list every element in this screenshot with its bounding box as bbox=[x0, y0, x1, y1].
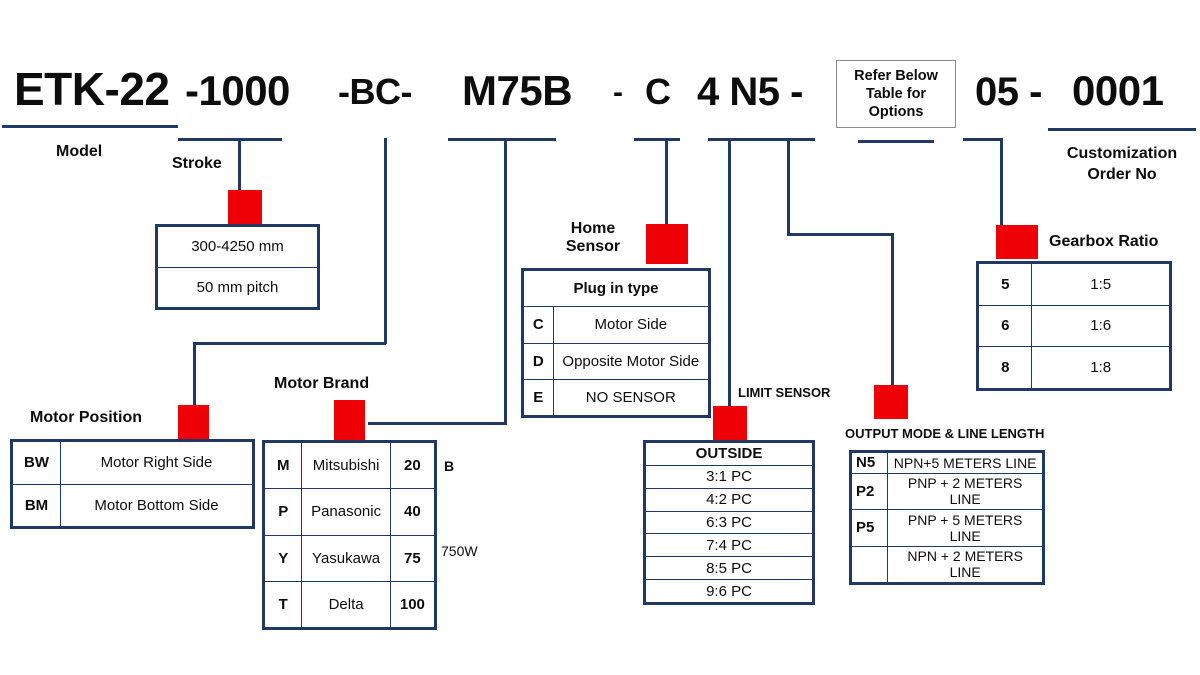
caption-motor-position: Motor Position bbox=[30, 409, 142, 427]
output-mode-leader-drop2 bbox=[891, 233, 894, 385]
motor-brand-name: Delta bbox=[302, 581, 390, 627]
stroke-pitch-cell: 50 mm pitch bbox=[158, 267, 318, 308]
limit-sensor-value: 7:4 PC bbox=[646, 534, 813, 557]
table-row: P2 PNP + 2 METERS LINE bbox=[852, 473, 1043, 509]
code-segment-home-sensor: C bbox=[645, 74, 671, 110]
output-mode-leader-run bbox=[787, 233, 893, 236]
caption-customization-line1: Customization bbox=[1044, 144, 1200, 165]
limit-sensor-value: 3:1 PC bbox=[646, 465, 813, 488]
output-mode-code: P5 bbox=[852, 510, 888, 546]
table-motor-position: BW Motor Right Side BM Motor Bottom Side bbox=[10, 439, 255, 529]
home-sensor-desc: Motor Side bbox=[553, 307, 708, 343]
table-row: P Panasonic 40 bbox=[265, 489, 435, 535]
table-row: 3:1 PC bbox=[646, 465, 813, 488]
model-underline bbox=[2, 125, 178, 128]
table-row: E NO SENSOR bbox=[524, 379, 709, 415]
motor-brand-code: T bbox=[265, 581, 302, 627]
options-box-line-3: Options bbox=[854, 103, 938, 121]
home-sensor-marker bbox=[646, 224, 688, 264]
options-box-line-2: Table for bbox=[854, 85, 938, 103]
motor-brand-code: P bbox=[265, 489, 302, 535]
limit-sensor-header: OUTSIDE bbox=[646, 443, 813, 466]
table-row: 7:4 PC bbox=[646, 534, 813, 557]
table-row: OUTSIDE bbox=[646, 443, 813, 466]
output-mode-leader-bar bbox=[753, 138, 815, 141]
motor-position-leader-drop bbox=[384, 138, 387, 344]
table-stroke: 300-4250 mm 50 mm pitch bbox=[155, 224, 320, 310]
gearbox-leader-drop bbox=[1000, 138, 1003, 232]
caption-customization-order-no: Customization Order No bbox=[1044, 144, 1200, 186]
output-mode-code: P2 bbox=[852, 473, 888, 509]
table-gearbox: 5 1:5 6 1:6 8 1:8 bbox=[976, 261, 1172, 391]
stroke-marker bbox=[228, 190, 262, 224]
limit-sensor-value: 4:2 PC bbox=[646, 488, 813, 511]
output-mode-code: N5 bbox=[852, 453, 888, 474]
table-motor-brand: M Mitsubishi 20 P Panasonic 40 Y Yasukaw… bbox=[262, 440, 437, 630]
table-row: NPN + 2 METERS LINE bbox=[852, 546, 1043, 582]
table-row: 9:6 PC bbox=[646, 580, 813, 603]
caption-home-sensor-line1: Home bbox=[548, 220, 638, 238]
home-sensor-code: D bbox=[524, 343, 554, 379]
limit-sensor-value: 9:6 PC bbox=[646, 580, 813, 603]
home-sensor-leader-bar bbox=[634, 138, 680, 141]
table-row: BM Motor Bottom Side bbox=[13, 484, 253, 527]
caption-model: Model bbox=[56, 143, 102, 161]
home-sensor-code: C bbox=[524, 307, 554, 343]
code-segment-dash-1: - bbox=[613, 78, 623, 108]
code-segment-stroke: -1000 bbox=[185, 70, 290, 112]
motor-brand-name: Panasonic bbox=[302, 489, 390, 535]
code-segment-gearbox: 05 - bbox=[975, 72, 1042, 112]
motor-position-marker bbox=[178, 405, 209, 439]
motor-position-desc: Motor Bottom Side bbox=[61, 484, 253, 527]
table-row: P5 PNP + 5 METERS LINE bbox=[852, 510, 1043, 546]
table-row: 300-4250 mm bbox=[158, 227, 318, 268]
motor-brand-power: 100 bbox=[390, 581, 434, 627]
motor-brand-power: 75 bbox=[390, 535, 434, 581]
motor-brand-leader-bar bbox=[448, 138, 556, 141]
table-row: Plug in type bbox=[524, 271, 709, 307]
table-row: Y Yasukawa 75 bbox=[265, 535, 435, 581]
output-mode-desc: NPN+5 METERS LINE bbox=[888, 453, 1043, 474]
home-sensor-leader-drop bbox=[665, 138, 668, 224]
table-home-sensor: Plug in type C Motor Side D Opposite Mot… bbox=[521, 268, 711, 418]
stroke-leader-drop bbox=[238, 138, 241, 190]
table-row: 50 mm pitch bbox=[158, 267, 318, 308]
motor-brand-code: M bbox=[265, 443, 302, 489]
output-mode-desc: NPN + 2 METERS LINE bbox=[888, 546, 1043, 582]
limit-sensor-value: 6:3 PC bbox=[646, 511, 813, 534]
motor-brand-note-b: B bbox=[444, 458, 454, 474]
gearbox-leader-bar bbox=[963, 138, 1001, 141]
motor-brand-power: 40 bbox=[390, 489, 434, 535]
table-row: C Motor Side bbox=[524, 307, 709, 343]
caption-home-sensor: Home Sensor bbox=[548, 220, 638, 257]
table-row: BW Motor Right Side bbox=[13, 442, 253, 485]
caption-gearbox-ratio: Gearbox Ratio bbox=[1049, 233, 1158, 251]
gearbox-ratio: 1:5 bbox=[1032, 264, 1170, 306]
gearbox-code: 8 bbox=[979, 347, 1032, 389]
limit-sensor-leader-drop bbox=[728, 138, 731, 406]
gearbox-code: 6 bbox=[979, 305, 1032, 347]
output-mode-desc: PNP + 2 METERS LINE bbox=[888, 473, 1043, 509]
motor-brand-name: Mitsubishi bbox=[302, 443, 390, 489]
motor-position-code: BW bbox=[13, 442, 61, 485]
table-row: 4:2 PC bbox=[646, 488, 813, 511]
motor-position-desc: Motor Right Side bbox=[61, 442, 253, 485]
motor-brand-code: Y bbox=[265, 535, 302, 581]
part-number-configurator-diagram: ETK-22 -1000 -BC- M75B - C 4 N5 - 05 - 0… bbox=[0, 0, 1200, 675]
motor-brand-leader-drop bbox=[504, 138, 507, 424]
table-row: M Mitsubishi 20 bbox=[265, 443, 435, 489]
table-limit-sensor: OUTSIDE 3:1 PC 4:2 PC 6:3 PC 7:4 PC 8:5 … bbox=[643, 440, 815, 605]
table-row: D Opposite Motor Side bbox=[524, 343, 709, 379]
code-segment-motor-brand: M75B bbox=[462, 70, 572, 112]
table-row: N5 NPN+5 METERS LINE bbox=[852, 453, 1043, 474]
output-mode-marker bbox=[874, 385, 908, 419]
table-row: 8 1:8 bbox=[979, 347, 1170, 389]
table-row: 8:5 PC bbox=[646, 557, 813, 580]
limit-sensor-value: 8:5 PC bbox=[646, 557, 813, 580]
gearbox-code: 5 bbox=[979, 264, 1032, 306]
options-underline bbox=[858, 140, 934, 143]
limit-sensor-marker bbox=[713, 406, 747, 440]
home-sensor-code: E bbox=[524, 379, 554, 415]
caption-home-sensor-line2: Sensor bbox=[548, 238, 638, 256]
motor-brand-power: 20 bbox=[390, 443, 434, 489]
options-box-line-1: Refer Below bbox=[854, 67, 938, 85]
gearbox-ratio: 1:6 bbox=[1032, 305, 1170, 347]
code-segment-limit-output: 4 N5 - bbox=[697, 72, 803, 112]
code-segment-order-no: 0001 bbox=[1072, 70, 1163, 112]
caption-limit-sensor: LIMIT SENSOR bbox=[738, 386, 830, 401]
caption-motor-brand: Motor Brand bbox=[274, 375, 369, 393]
caption-customization-line2: Order No bbox=[1044, 165, 1200, 186]
home-sensor-header: Plug in type bbox=[524, 271, 709, 307]
gearbox-ratio: 1:8 bbox=[1032, 347, 1170, 389]
motor-brand-leader-run bbox=[368, 422, 507, 425]
output-mode-desc: PNP + 5 METERS LINE bbox=[888, 510, 1043, 546]
code-segment-model: ETK-22 bbox=[14, 66, 169, 112]
table-output-mode: N5 NPN+5 METERS LINE P2 PNP + 2 METERS L… bbox=[849, 450, 1045, 585]
output-mode-leader-drop1 bbox=[787, 138, 790, 236]
customization-underline bbox=[1048, 128, 1196, 131]
motor-brand-name: Yasukawa bbox=[302, 535, 390, 581]
motor-position-leader-run bbox=[193, 342, 386, 345]
caption-stroke: Stroke bbox=[172, 155, 222, 173]
table-row: T Delta 100 bbox=[265, 581, 435, 627]
motor-position-code: BM bbox=[13, 484, 61, 527]
code-segment-motor-position: -BC- bbox=[338, 74, 412, 110]
table-row: 6 1:6 bbox=[979, 305, 1170, 347]
caption-output-mode: OUTPUT MODE & LINE LENGTH bbox=[845, 427, 1044, 442]
gearbox-marker bbox=[996, 225, 1038, 259]
motor-brand-note-watt: 750W bbox=[441, 543, 478, 559]
home-sensor-desc: NO SENSOR bbox=[553, 379, 708, 415]
stroke-leader-bar bbox=[178, 138, 282, 141]
home-sensor-desc: Opposite Motor Side bbox=[553, 343, 708, 379]
motor-brand-marker bbox=[334, 400, 365, 440]
output-mode-code bbox=[852, 546, 888, 582]
refer-below-table-options-box: Refer Below Table for Options bbox=[836, 60, 956, 128]
stroke-range-cell: 300-4250 mm bbox=[158, 227, 318, 268]
limit-sensor-leader-bar bbox=[708, 138, 754, 141]
table-row: 6:3 PC bbox=[646, 511, 813, 534]
table-row: 5 1:5 bbox=[979, 264, 1170, 306]
